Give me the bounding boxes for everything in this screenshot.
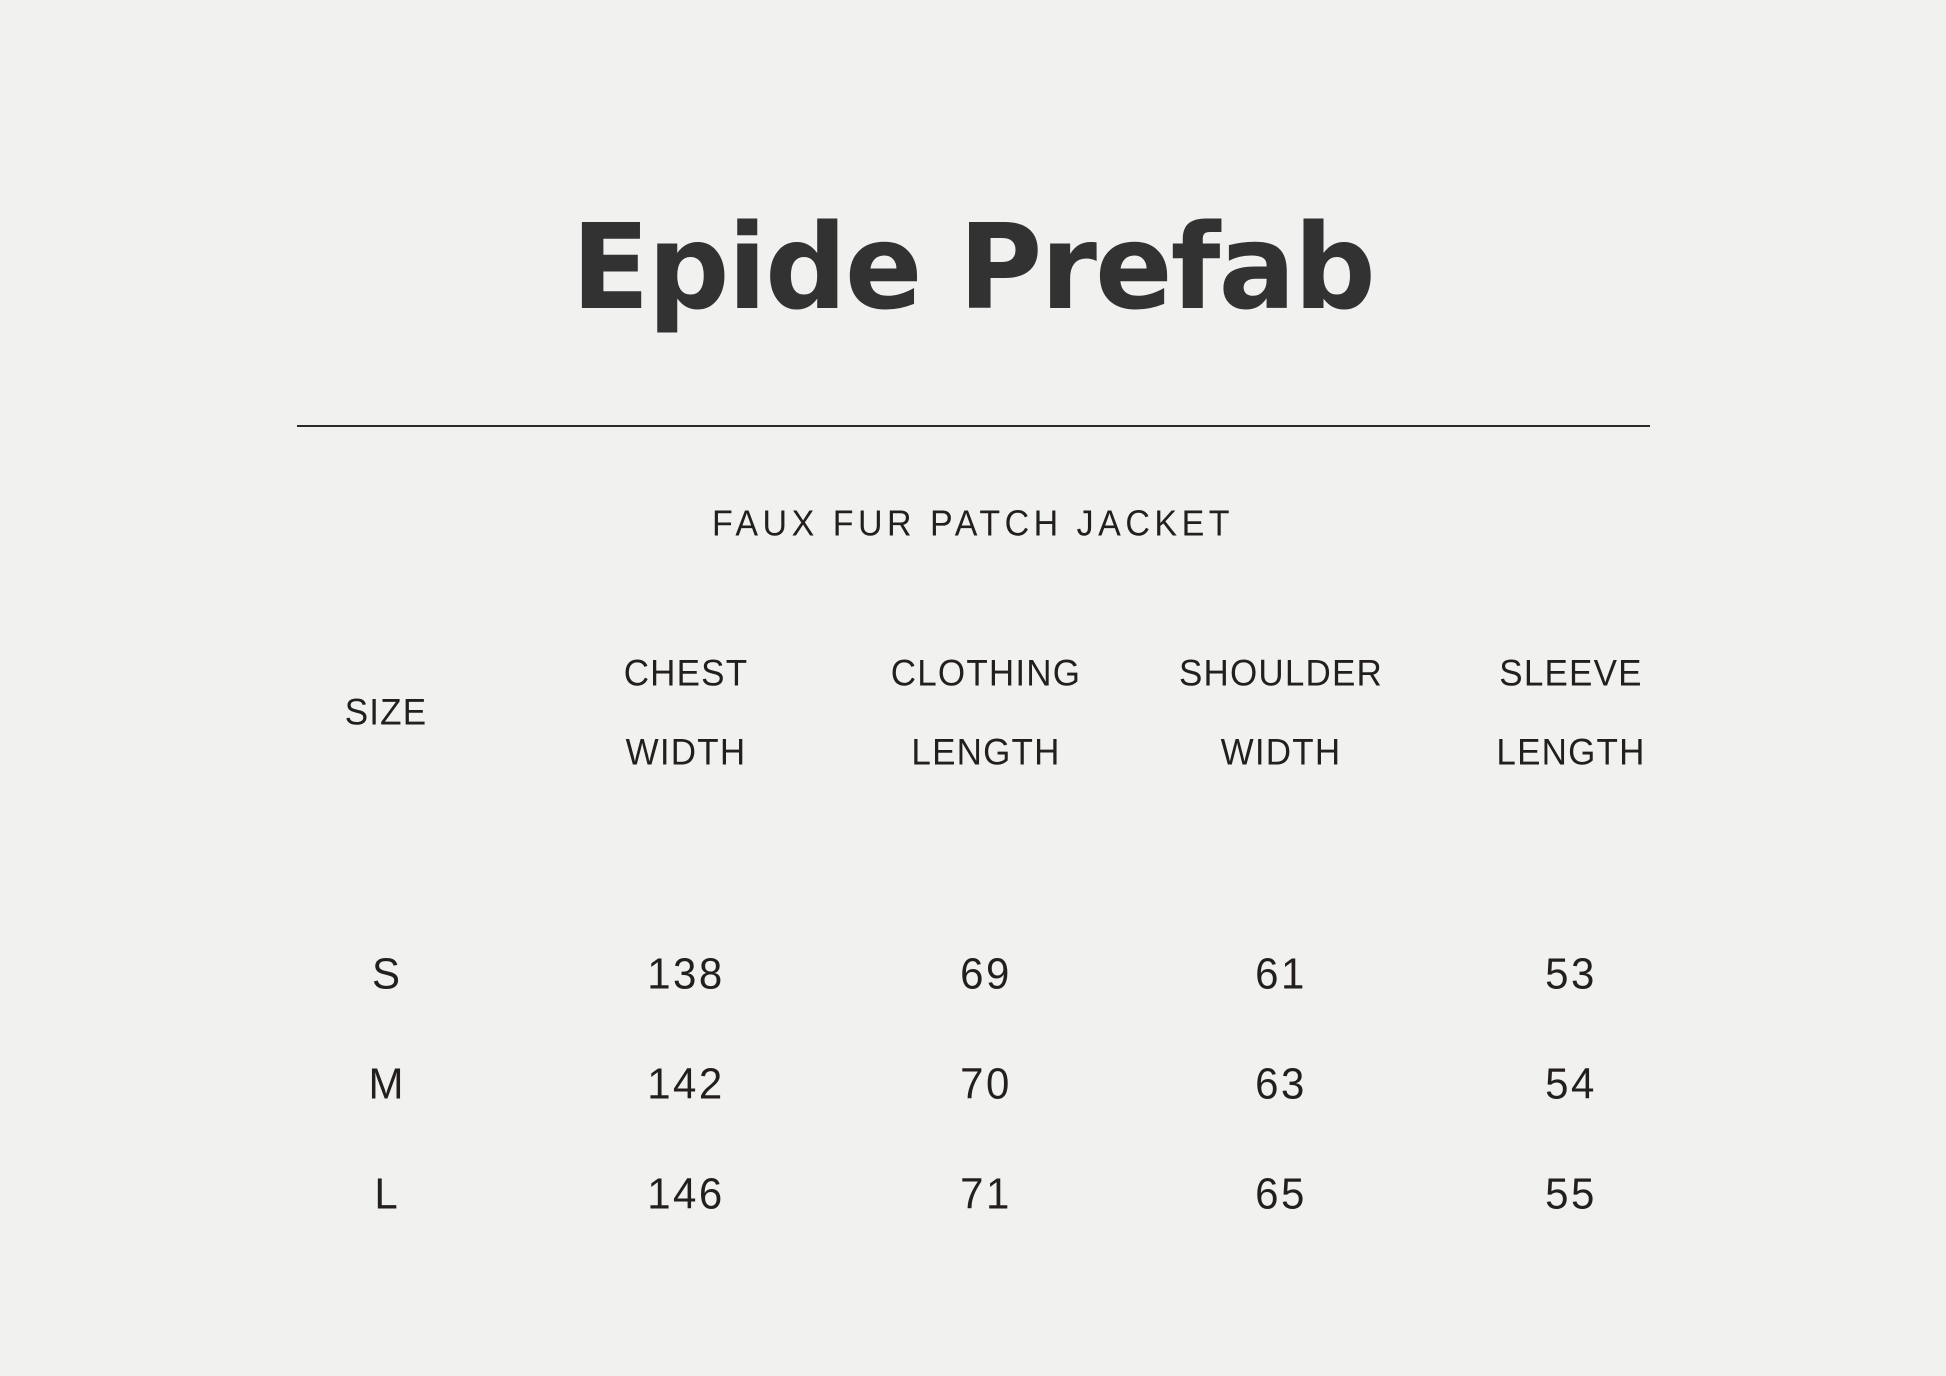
- header-body-spacer: [236, 811, 1716, 919]
- cell-size: S: [236, 919, 536, 1029]
- column-header-clothing-length-line2: LENGTH: [836, 732, 1136, 773]
- title-block: Epide Prefab: [0, 208, 1946, 326]
- product-name: FAUX FUR PATCH JACKET: [712, 504, 1234, 545]
- cell-sleeve-length: 54: [1426, 1029, 1716, 1139]
- table-row: M 142 70 63 54: [236, 1029, 1716, 1139]
- size-chart-header-row: SIZE CHEST WIDTH CLOTHING LENGTH SHOULDE…: [236, 615, 1716, 811]
- cell-shoulder-width: 63: [1136, 1029, 1426, 1139]
- cell-clothing-length: 70: [836, 1029, 1136, 1139]
- cell-clothing-length: 71: [836, 1139, 1136, 1249]
- column-header-shoulder-width-line1: SHOULDER: [1136, 653, 1426, 694]
- column-header-size: SIZE: [236, 615, 536, 811]
- column-header-chest-width: CHEST WIDTH: [536, 615, 836, 811]
- cell-size: M: [236, 1029, 536, 1139]
- subtitle-block: FAUX FUR PATCH JACKET: [0, 505, 1946, 544]
- cell-chest-width: 138: [536, 919, 836, 1029]
- table-row: S 138 69 61 53: [236, 919, 1716, 1029]
- column-header-clothing-length: CLOTHING LENGTH: [836, 615, 1136, 811]
- cell-shoulder-width: 61: [1136, 919, 1426, 1029]
- header-divider-rule: [297, 425, 1650, 427]
- cell-sleeve-length: 55: [1426, 1139, 1716, 1249]
- size-chart-page: Epide Prefab FAUX FUR PATCH JACKET SIZE …: [0, 0, 1946, 1376]
- cell-chest-width: 142: [536, 1029, 836, 1139]
- brand-title: Epide Prefab: [572, 208, 1374, 326]
- column-header-clothing-length-line1: CLOTHING: [836, 653, 1136, 694]
- cell-clothing-length: 69: [836, 919, 1136, 1029]
- column-header-chest-width-line2: WIDTH: [536, 732, 836, 773]
- column-header-chest-width-line1: CHEST: [536, 653, 836, 694]
- column-header-size-line1: SIZE: [236, 692, 536, 733]
- cell-size: L: [236, 1139, 536, 1249]
- table-row: L 146 71 65 55: [236, 1139, 1716, 1249]
- column-header-sleeve-length-line1: SLEEVE: [1426, 653, 1716, 694]
- column-header-shoulder-width-line2: WIDTH: [1136, 732, 1426, 773]
- size-chart-table: SIZE CHEST WIDTH CLOTHING LENGTH SHOULDE…: [236, 615, 1716, 1249]
- cell-chest-width: 146: [536, 1139, 836, 1249]
- cell-sleeve-length: 53: [1426, 919, 1716, 1029]
- column-header-sleeve-length: SLEEVE LENGTH: [1426, 615, 1716, 811]
- column-header-sleeve-length-line2: LENGTH: [1426, 732, 1716, 773]
- cell-shoulder-width: 65: [1136, 1139, 1426, 1249]
- column-header-shoulder-width: SHOULDER WIDTH: [1136, 615, 1426, 811]
